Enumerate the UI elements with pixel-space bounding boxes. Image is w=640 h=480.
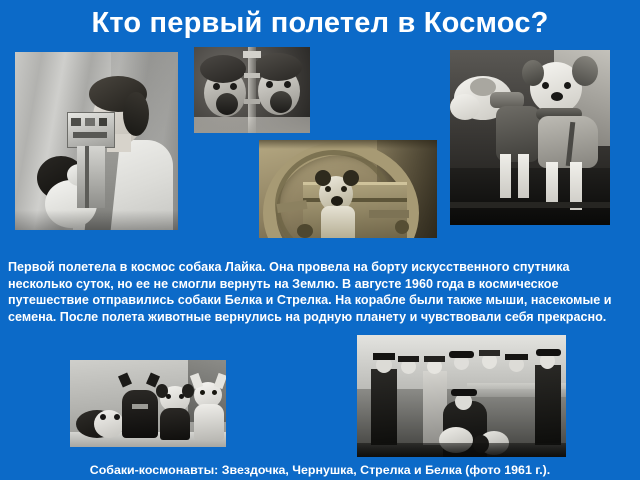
slide-title: Кто первый полетел в Космос? [0,6,640,40]
photo-belka-and-strelka [450,50,610,225]
presentation-slide: Кто первый полетел в Космос? [0,0,640,480]
photo-group-with-dogs-1961 [357,335,566,457]
photo-scientist-with-laika [15,52,178,230]
slide-body-text: Первой полетела в космос собака Лайка. О… [8,259,620,325]
photo-two-dogs-in-capsule-harness [194,47,310,133]
photo-caption: Собаки-космонавты: Звездочка, Чернушка, … [0,462,640,478]
photo-dog-in-spacecraft-container [259,140,437,238]
photo-four-space-dogs [70,360,226,447]
